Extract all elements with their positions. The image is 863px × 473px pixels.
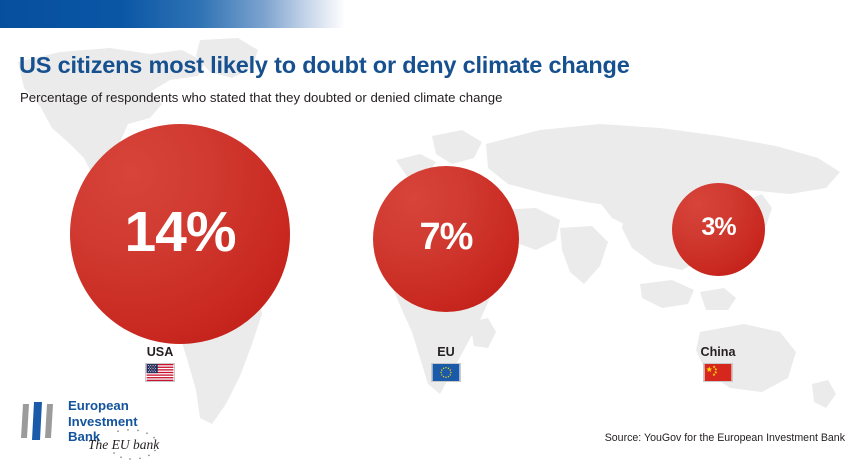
flag-eu-icon	[431, 363, 461, 382]
header-banner	[0, 0, 863, 28]
bubble-usa: 14%	[70, 124, 290, 344]
svg-text:The EU bank: The EU bank	[88, 437, 160, 452]
source-note: Source: YouGov for the European Investme…	[605, 432, 845, 444]
country-label-china: China	[678, 345, 758, 359]
bubble-eu: 7%	[373, 166, 519, 312]
country-group-china: China	[678, 345, 758, 382]
eib-logo-line2: Investment	[68, 414, 138, 429]
page-subtitle: Percentage of respondents who stated tha…	[20, 90, 502, 105]
infographic-canvas: EIB climate survey US citizens most like…	[0, 0, 863, 473]
country-label-eu: EU	[406, 345, 486, 359]
country-label-usa: USA	[120, 345, 200, 359]
page-title: US citizens most likely to doubt or deny…	[19, 52, 630, 79]
bubble-value-usa: 14%	[124, 204, 235, 261]
bubble-value-china: 3%	[701, 215, 735, 240]
flag-usa-icon	[145, 363, 175, 382]
bubble-value-eu: 7%	[420, 218, 473, 256]
eib-bars-icon	[18, 400, 60, 442]
flag-china-icon	[703, 363, 733, 382]
country-group-usa: USA	[120, 345, 200, 382]
eib-tagline: The EU bank	[78, 428, 178, 464]
bubble-china: 3%	[672, 183, 765, 276]
eib-logo-line1: European	[68, 398, 129, 413]
country-group-eu: EU	[406, 345, 486, 382]
